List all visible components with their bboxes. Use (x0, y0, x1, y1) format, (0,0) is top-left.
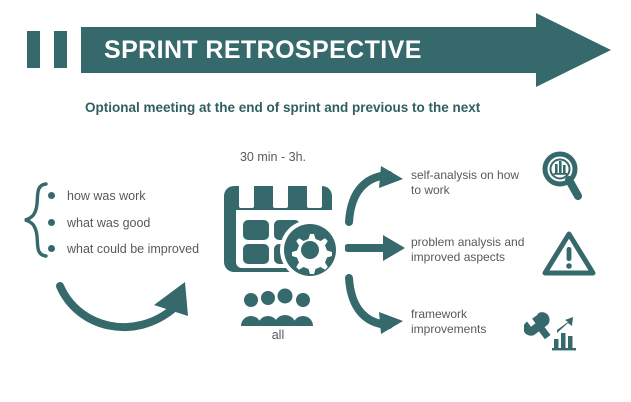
outcome-label-framework-improvements: framework improvements (411, 307, 529, 337)
list-item: what was good (48, 214, 150, 232)
bullet-dot-icon (48, 245, 55, 252)
curved-arrow-down-icon (345, 272, 407, 334)
subtitle: Optional meeting at the end of sprint an… (85, 100, 555, 115)
bullet-dot-icon (48, 192, 55, 199)
straight-arrow-right-icon (345, 228, 407, 268)
header-tick-mark-1 (27, 31, 40, 68)
calendar-gear-icon (218, 174, 338, 284)
curved-arrow-up-icon (345, 166, 407, 228)
magnifier-chart-icon (536, 150, 594, 200)
meeting-duration-label: 30 min - 3h. (208, 150, 338, 164)
list-item-label: how was work (67, 189, 146, 203)
wrench-growth-chart-icon (524, 304, 582, 354)
meeting-audience-label: all (213, 328, 343, 342)
outcome-label-self-analysis: self-analysis on how to work (411, 168, 529, 198)
page-title: SPRINT RETROSPECTIVE (104, 32, 524, 68)
header-tick-mark-2 (54, 31, 67, 68)
list-item-label: what could be improved (67, 242, 199, 256)
list-item: how was work (48, 187, 146, 205)
list-item-label: what was good (67, 216, 150, 230)
infographic-canvas: SPRINT RETROSPECTIVE Optional meeting at… (0, 0, 631, 402)
curly-brace-icon (22, 182, 50, 258)
people-group-icon (240, 288, 316, 326)
outcome-label-problem-analysis: problem analysis and improved aspects (411, 235, 529, 265)
curved-feedback-arrow-icon (56, 256, 226, 346)
bullet-dot-icon (48, 219, 55, 226)
warning-triangle-icon (540, 228, 598, 278)
